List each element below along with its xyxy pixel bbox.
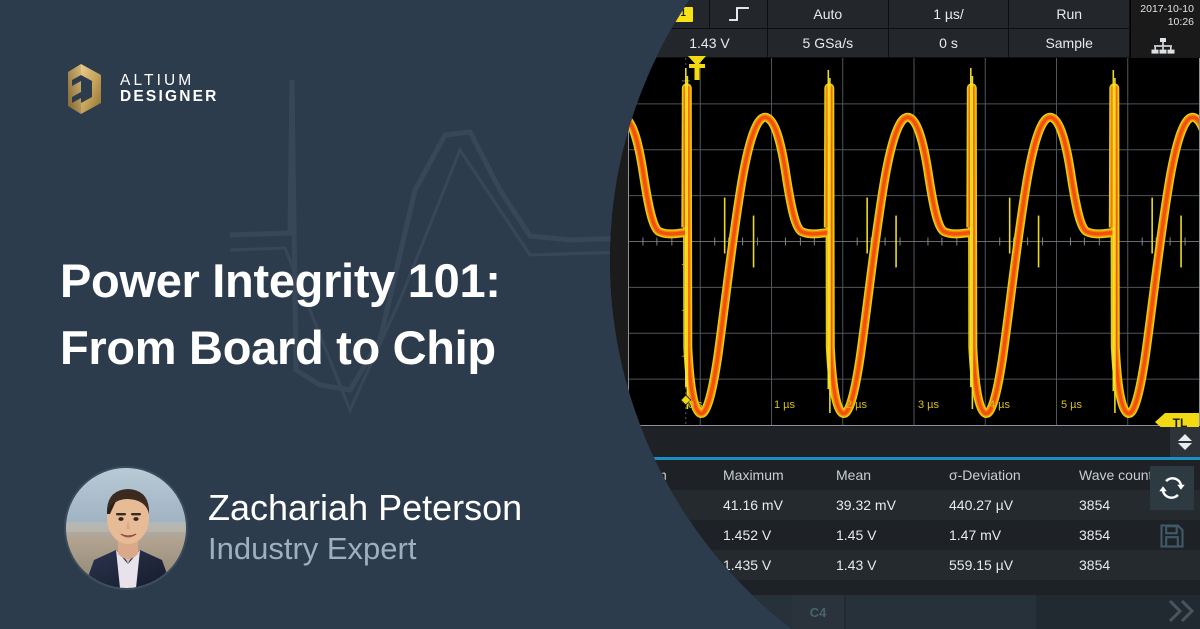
channel-square-icon: [612, 604, 628, 620]
table-row[interactable]: 1.444 V 1.452 V 1.45 V 1.47 mV 3854: [600, 520, 1200, 550]
column-header-mean: Mean: [826, 467, 939, 483]
promo-banner: ALTIUM DESIGNER Power Integrity 101: Fro…: [0, 0, 1200, 629]
logo-altium-text: ALTIUM: [120, 73, 219, 89]
gear-icon: [618, 17, 634, 33]
trigger-rising-edge-icon: [728, 6, 750, 22]
cell-mean: 1.45 V: [826, 527, 939, 543]
waveform-grid: [629, 58, 1199, 425]
avatar: [66, 468, 186, 588]
acquisition-mode-value[interactable]: Sample: [1009, 29, 1130, 58]
cell-deviation: 1.47 mV: [939, 527, 1069, 543]
presenter-headshot-icon: [66, 468, 186, 588]
channel-tag-c4[interactable]: C4: [792, 595, 844, 629]
channel-selector[interactable]: C1: [652, 0, 710, 29]
headline-line-1: Power Integrity 101:: [60, 254, 501, 307]
save-button[interactable]: [1150, 514, 1194, 558]
column-header-maximum: Maximum: [713, 467, 826, 483]
refresh-button[interactable]: [1150, 466, 1194, 510]
cell-maximum: 41.16 mV: [713, 497, 826, 513]
altium-a-mark-icon: [68, 63, 106, 115]
time-label-6: 5 µs: [1061, 399, 1082, 411]
time-label-5: 4 µs: [989, 399, 1010, 411]
cell-deviation: 559.15 µV: [939, 557, 1069, 573]
vertical-scroll-stepper[interactable]: [1170, 427, 1200, 457]
save-floppy-icon: [1158, 522, 1186, 550]
table-row[interactable]: 37.09 mV 41.16 mV 39.32 mV 440.27 µV 385…: [600, 490, 1200, 520]
scope-status-bar: C1 Auto 1 µs/ Run 1.: [600, 0, 1200, 58]
column-header-deviation: σ-Deviation: [939, 467, 1069, 483]
triangle-up-icon[interactable]: [1178, 434, 1192, 441]
channel-tag-label: C4: [798, 605, 839, 620]
presenter-name: Zachariah Peterson: [208, 487, 522, 529]
trigger-mode-button[interactable]: Auto: [768, 0, 889, 29]
cell-maximum: 1.452 V: [713, 527, 826, 543]
trigger-level-value[interactable]: 1.43 V: [652, 29, 768, 58]
cell-deviation: 440.27 µV: [939, 497, 1069, 513]
time-label-2: 1 µs: [774, 399, 795, 411]
channel-square-button[interactable]: [600, 595, 640, 629]
cell-minimum: 37.09 mV: [600, 497, 713, 513]
refresh-sync-icon: [1159, 475, 1185, 501]
channel-settings-area[interactable]: [642, 595, 792, 629]
triangle-down-icon[interactable]: [1178, 443, 1192, 450]
channel-badge-c1: C1: [668, 7, 693, 22]
column-header-minimum: Minimum: [600, 467, 713, 483]
altium-designer-logo: ALTIUM DESIGNER: [68, 58, 248, 120]
cell-minimum: 1.444 V: [600, 527, 713, 543]
scope-settings-button[interactable]: [600, 0, 652, 58]
chevron-down-icon: [621, 36, 631, 41]
channel-strip: C4: [600, 595, 1200, 629]
cell-maximum: 1.435 V: [713, 557, 826, 573]
channel-value-area[interactable]: [846, 595, 1036, 629]
run-state-button[interactable]: Run: [1009, 0, 1130, 29]
trigger-slope-button[interactable]: [710, 0, 768, 29]
trigger-position-marker-t[interactable]: [686, 56, 708, 82]
scope-time: 10:26: [1168, 16, 1194, 29]
scope-date: 2017-10-10: [1140, 3, 1194, 16]
time-label-0: -1 µs: [604, 399, 629, 411]
cell-minimum: 1.431 V: [600, 557, 713, 573]
corner-chevron-icon: [1164, 593, 1198, 627]
time-label-3: 2 µs: [846, 399, 867, 411]
scope-toolbar-strip: [600, 427, 1200, 457]
presenter-role: Industry Expert: [208, 530, 522, 569]
cell-mean: 1.43 V: [826, 557, 939, 573]
cell-wave-count: 3854: [1069, 557, 1169, 573]
lan-network-icon[interactable]: [1151, 38, 1175, 54]
time-axis: -1 µs 0 s 1 µs 2 µs 3 µs 4 µs 5 µs: [628, 399, 1200, 419]
waveform-display[interactable]: TL: [628, 58, 1200, 426]
logo-designer-text: DESIGNER: [120, 89, 219, 105]
table-row[interactable]: 1.431 V 1.435 V 1.43 V 559.15 µV 3854: [600, 550, 1200, 580]
time-label-1: 0 s: [688, 399, 703, 411]
sample-rate-value[interactable]: 5 GSa/s: [768, 29, 889, 58]
time-offset-value[interactable]: 0 s: [889, 29, 1010, 58]
presenter-block: Zachariah Peterson Industry Expert: [66, 468, 522, 588]
timebase-button[interactable]: 1 µs/: [889, 0, 1010, 29]
page-title: Power Integrity 101: From Board to Chip: [60, 248, 620, 381]
cell-mean: 39.32 mV: [826, 497, 939, 513]
headline-line-2: From Board to Chip: [60, 315, 620, 382]
clock-and-network: 2017-10-10 10:26: [1130, 0, 1200, 58]
table-header-row: Minimum Maximum Mean σ-Deviation Wave co…: [600, 460, 1200, 490]
time-label-4: 3 µs: [918, 399, 939, 411]
